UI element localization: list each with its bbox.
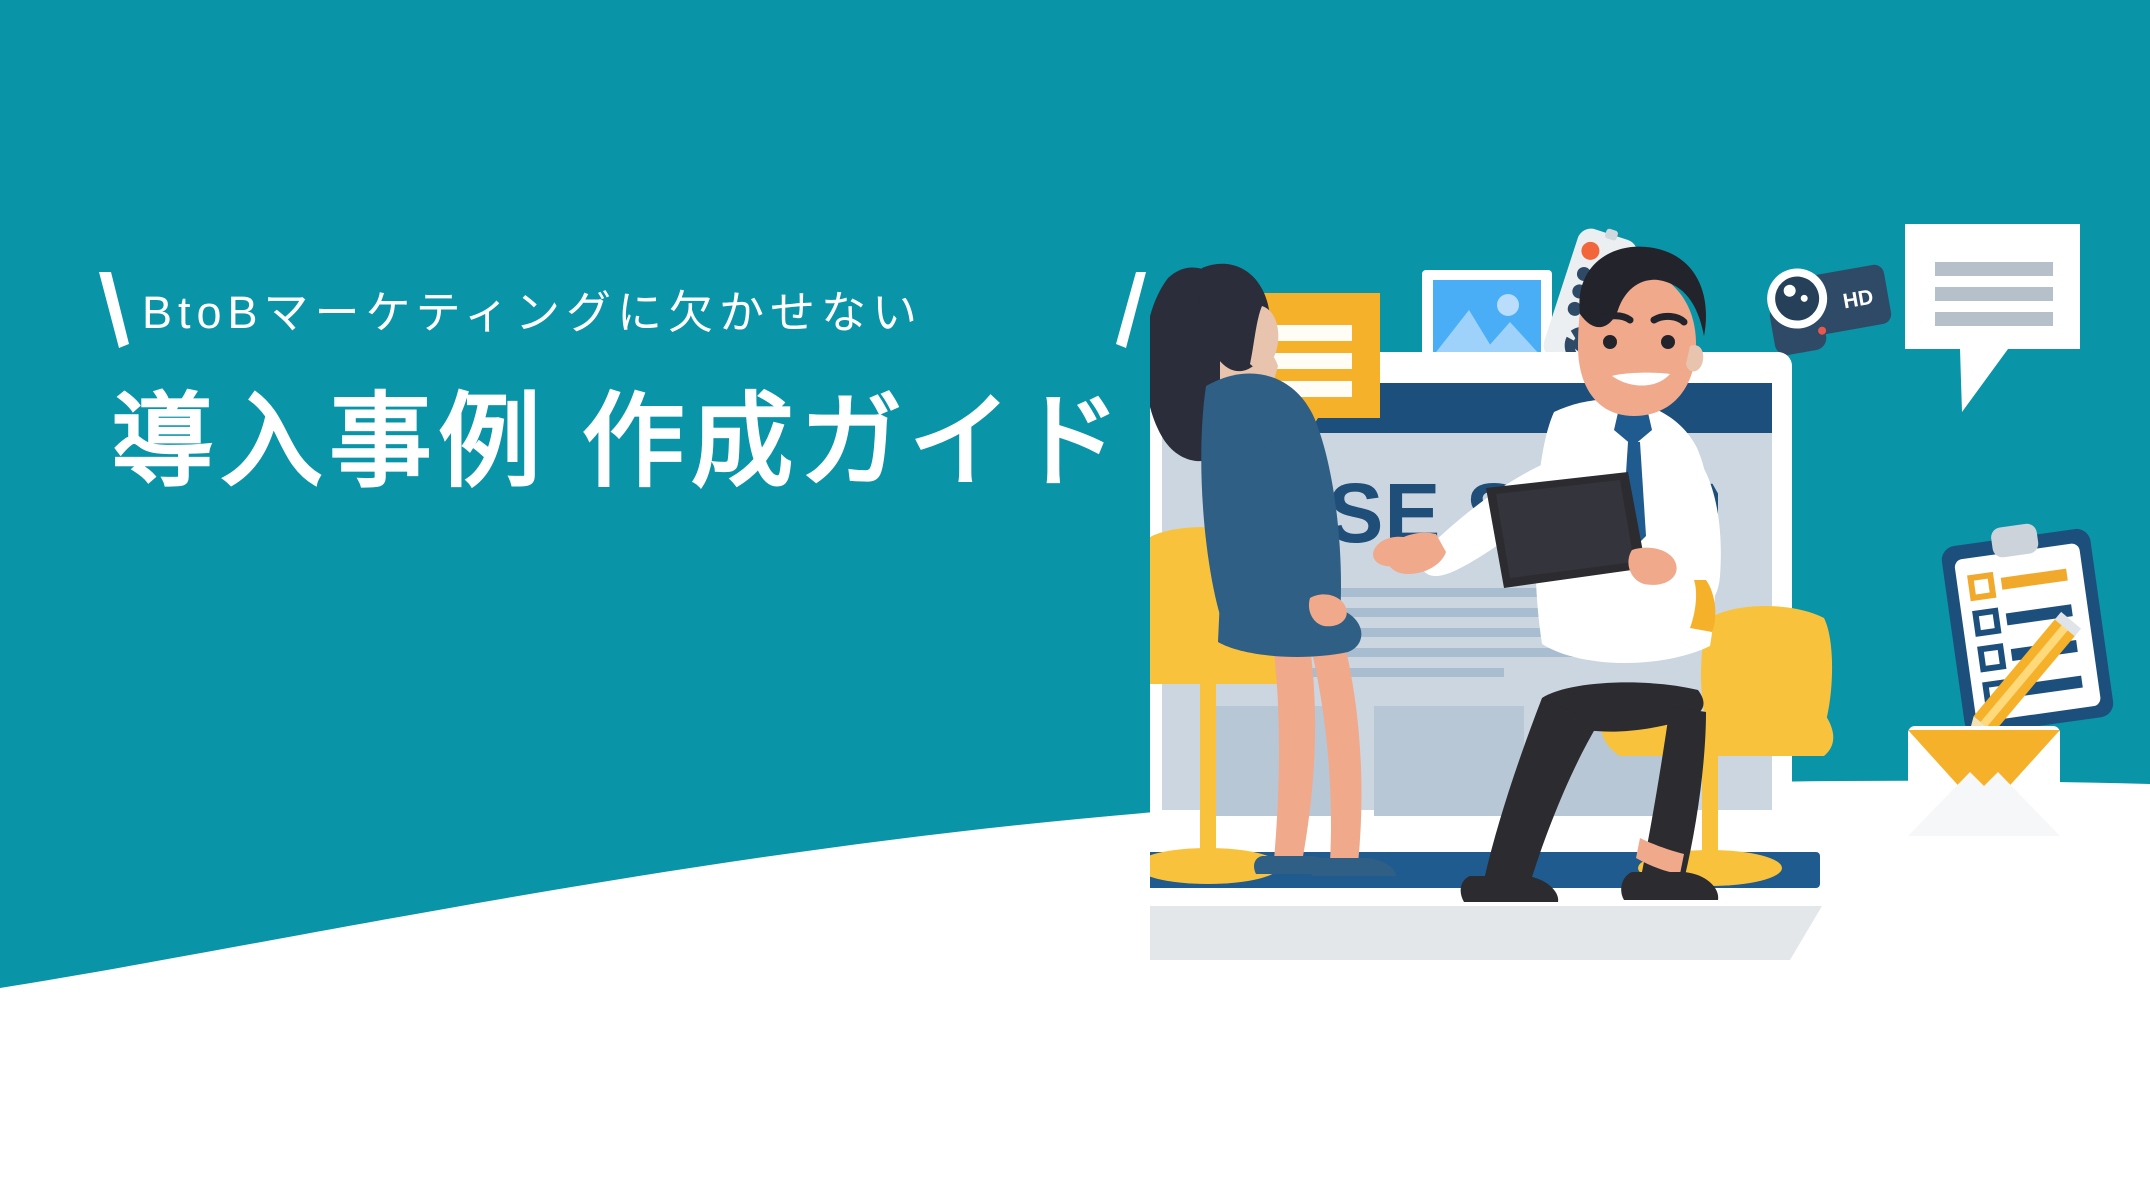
envelope-icon — [1908, 726, 2060, 836]
subtitle-text: BtoBマーケティングに欠かせない — [142, 290, 923, 335]
subtitle-row: BtoBマーケティングに欠かせない — [95, 268, 1115, 356]
page-title: 導入事例 作成ガイド — [111, 382, 1115, 501]
hd-camera-icon: HD — [1762, 253, 1895, 357]
case-study-meeting-illustration: HD CASE STUDY — [1150, 150, 2150, 1190]
slash-right-decoration-icon — [1110, 270, 1150, 350]
photo-icon — [1422, 270, 1552, 366]
chat-bubble-white-icon — [1905, 224, 2080, 412]
hero-banner: BtoBマーケティングに欠かせない 導入事例 作成ガイド — [0, 0, 2150, 1190]
clipboard-checklist-icon — [1938, 515, 2115, 736]
headline-block: BtoBマーケティングに欠かせない 導入事例 作成ガイド — [95, 268, 1115, 501]
slash-left-decoration-icon — [95, 270, 135, 350]
tablet-device — [1486, 472, 1646, 588]
